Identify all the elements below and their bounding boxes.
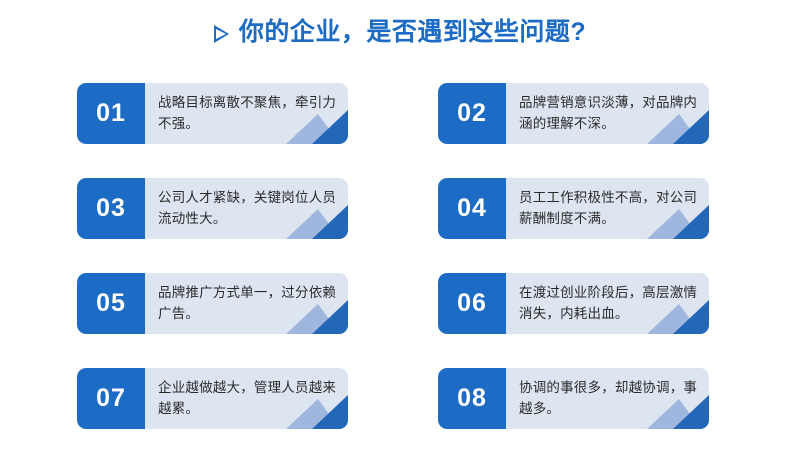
card-number-badge: 03 xyxy=(77,178,145,239)
problem-card-05[interactable]: 05 品牌推广方式单一，过分依赖广告。 xyxy=(77,273,348,334)
problem-card-01[interactable]: 01 战略目标离散不聚焦，牵引力不强。 xyxy=(77,83,348,144)
page-title-text: 你的企业，是否遇到这些问题? xyxy=(239,20,586,45)
card-text: 公司人才紧缺，关键岗位人员流动性大。 xyxy=(158,188,338,230)
problem-card-02[interactable]: 02 品牌营销意识淡薄，对品牌内涵的理解不深。 xyxy=(438,83,709,144)
card-body: 员工工作积极性不高，对公司薪酬制度不满。 xyxy=(506,178,709,239)
problem-card-08[interactable]: 08 协调的事很多，却越协调，事越多。 xyxy=(438,368,709,429)
card-body: 公司人才紧缺，关键岗位人员流动性大。 xyxy=(145,178,348,239)
card-text: 战略目标离散不聚焦，牵引力不强。 xyxy=(158,93,338,135)
card-body: 协调的事很多，却越协调，事越多。 xyxy=(506,368,709,429)
card-number-badge: 08 xyxy=(438,368,506,429)
card-text: 品牌营销意识淡薄，对品牌内涵的理解不深。 xyxy=(519,93,699,135)
card-body: 品牌营销意识淡薄，对品牌内涵的理解不深。 xyxy=(506,83,709,144)
problem-card-07[interactable]: 07 企业越做越大，管理人员越来越累。 xyxy=(77,368,348,429)
problem-card-grid: 01 战略目标离散不聚焦，牵引力不强。 02 品牌营销意识淡薄，对品牌内涵的理解… xyxy=(77,83,709,413)
card-text: 在渡过创业阶段后，高层激情消失，内耗出血。 xyxy=(519,283,699,325)
slide-root: 你的企业，是否遇到这些问题? 01 战略目标离散不聚焦，牵引力不强。 02 品牌… xyxy=(0,0,800,450)
card-number-badge: 05 xyxy=(77,273,145,334)
card-text: 品牌推广方式单一，过分依赖广告。 xyxy=(158,283,338,325)
card-body: 品牌推广方式单一，过分依赖广告。 xyxy=(145,273,348,334)
card-text: 企业越做越大，管理人员越来越累。 xyxy=(158,378,338,420)
arrow-right-triangle-icon xyxy=(214,25,229,43)
problem-card-03[interactable]: 03 公司人才紧缺，关键岗位人员流动性大。 xyxy=(77,178,348,239)
card-number-badge: 06 xyxy=(438,273,506,334)
card-text: 协调的事很多，却越协调，事越多。 xyxy=(519,378,699,420)
card-number-badge: 04 xyxy=(438,178,506,239)
card-number-badge: 02 xyxy=(438,83,506,144)
page-title: 你的企业，是否遇到这些问题? xyxy=(0,20,800,45)
card-number-badge: 01 xyxy=(77,83,145,144)
card-body: 在渡过创业阶段后，高层激情消失，内耗出血。 xyxy=(506,273,709,334)
card-body: 企业越做越大，管理人员越来越累。 xyxy=(145,368,348,429)
problem-card-06[interactable]: 06 在渡过创业阶段后，高层激情消失，内耗出血。 xyxy=(438,273,709,334)
card-body: 战略目标离散不聚焦，牵引力不强。 xyxy=(145,83,348,144)
card-text: 员工工作积极性不高，对公司薪酬制度不满。 xyxy=(519,188,699,230)
problem-card-04[interactable]: 04 员工工作积极性不高，对公司薪酬制度不满。 xyxy=(438,178,709,239)
card-number-badge: 07 xyxy=(77,368,145,429)
